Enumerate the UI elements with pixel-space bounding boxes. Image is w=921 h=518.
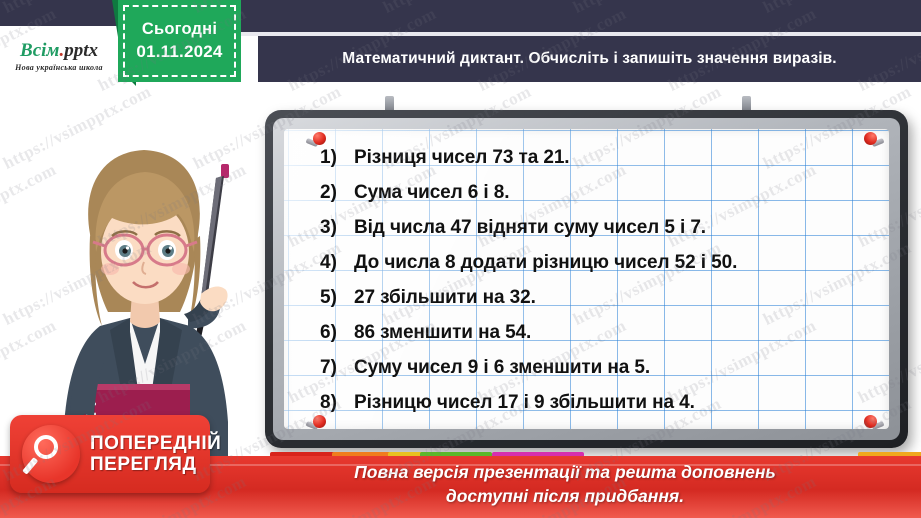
brand-logo: Всім.pptx Нова українська школа — [0, 26, 118, 84]
teacher-illustration — [38, 126, 250, 456]
task-item: 4) До числа 8 додати різницю чисел 52 і … — [320, 245, 875, 280]
task-item: 5) 27 збільшити на 32. — [320, 280, 875, 315]
slide-title-bar: Математичний диктант. Обчисліть і запиші… — [258, 36, 921, 82]
brand-logo-wordmark: Всім.pptx — [20, 41, 98, 60]
brand-name-primary: Всім — [20, 40, 59, 61]
today-badge: Сьогодні 01.11.2024 — [118, 0, 241, 82]
task-item: 6) 86 зменшити на 54. — [320, 315, 875, 350]
whiteboard-surface: 1) Різниця чисел 73 та 21. 2) Сума чисел… — [284, 129, 889, 429]
magnifier-icon — [22, 425, 80, 483]
preview-button[interactable]: ПОПЕРЕДНІЙ ПЕРЕГЛЯД — [10, 415, 210, 493]
preview-button-line1: ПОПЕРЕДНІЙ — [90, 433, 221, 454]
task-number: 7) — [320, 350, 354, 385]
pushpin-bottom-right — [860, 415, 884, 429]
today-label: Сьогодні — [142, 20, 217, 39]
pushpin-bottom-left — [306, 415, 330, 429]
task-number: 6) — [320, 315, 354, 350]
task-item: 3) Від числа 47 відняти суму чисел 5 і 7… — [320, 210, 875, 245]
pushpin-top-right — [860, 132, 884, 152]
pushpin-top-left — [306, 132, 330, 152]
task-number: 3) — [320, 210, 354, 245]
task-text: Сума чисел 6 і 8. — [354, 175, 509, 210]
whiteboard: 1) Різниця чисел 73 та 21. 2) Сума чисел… — [265, 110, 908, 448]
slide-canvas: Математичний диктант. Обчисліть і запиші… — [0, 0, 921, 518]
page-title: Математичний диктант. Обчисліть і запиші… — [342, 50, 836, 68]
purchase-banner-text: Повна версія презентації та решта доповн… — [215, 460, 915, 508]
task-item: 8) Різницю чисел 17 і 9 збільшити на 4. — [320, 385, 875, 420]
task-text: До числа 8 додати різницю чисел 52 і 50. — [354, 245, 737, 280]
whiteboard-bevel: 1) Різниця чисел 73 та 21. 2) Сума чисел… — [273, 118, 900, 440]
task-number: 4) — [320, 245, 354, 280]
task-list: 1) Різниця чисел 73 та 21. 2) Сума чисел… — [320, 140, 875, 420]
task-text: Від числа 47 відняти суму чисел 5 і 7. — [354, 210, 706, 245]
task-item: 1) Різниця чисел 73 та 21. — [320, 140, 875, 175]
task-number: 5) — [320, 280, 354, 315]
task-number: 2) — [320, 175, 354, 210]
task-text: Різницю чисел 17 і 9 збільшити на 4. — [354, 385, 695, 420]
task-item: 7) Суму чисел 9 і 6 зменшити на 5. — [320, 350, 875, 385]
task-text: Суму чисел 9 і 6 зменшити на 5. — [354, 350, 650, 385]
task-item: 2) Сума чисел 6 і 8. — [320, 175, 875, 210]
preview-button-labels: ПОПЕРЕДНІЙ ПЕРЕГЛЯД — [90, 433, 221, 475]
purchase-banner-line1: Повна версія презентації та решта доповн… — [215, 460, 915, 484]
task-text: Різниця чисел 73 та 21. — [354, 140, 569, 175]
brand-name-secondary: pptx — [64, 40, 98, 61]
preview-button-line2: ПЕРЕГЛЯД — [90, 454, 221, 475]
task-text: 27 збільшити на 32. — [354, 280, 536, 315]
task-text: 86 зменшити на 54. — [354, 315, 531, 350]
today-date: 01.11.2024 — [136, 42, 222, 62]
brand-tagline: Нова українська школа — [15, 63, 103, 72]
purchase-banner-line2: доступні після придбання. — [215, 484, 915, 508]
